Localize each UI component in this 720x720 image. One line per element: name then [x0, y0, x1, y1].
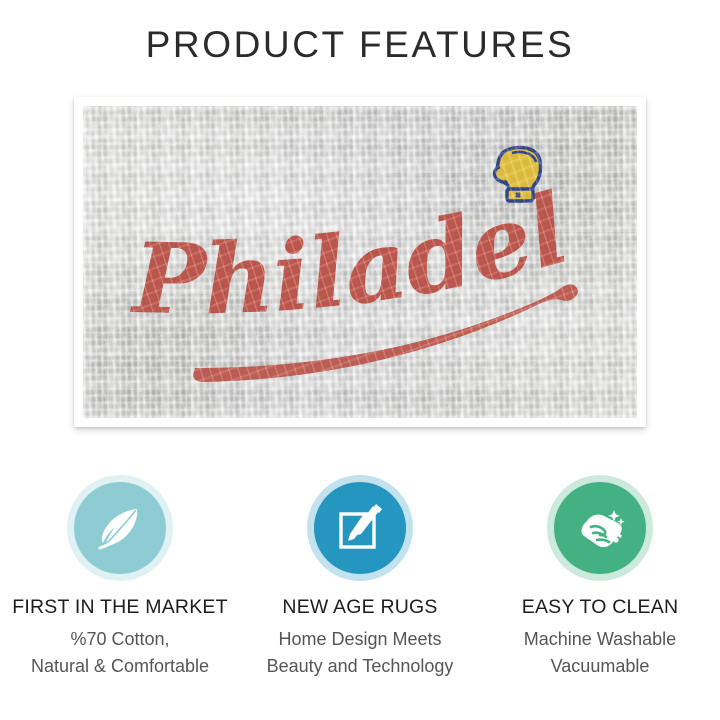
script-lettering: Philadelphia — [83, 106, 580, 337]
rug-script-logo: Philadelphia — [83, 106, 637, 418]
feature-subtext: Home Design Meets Beauty and Technology — [267, 626, 454, 681]
feature-item-clean: EASY TO CLEAN Machine Washable Vacuumabl… — [480, 482, 720, 681]
feature-subtext-line1: Machine Washable — [524, 629, 676, 649]
feature-item-cotton: FIRST IN THE MARKET %70 Cotton, Natural … — [0, 482, 240, 681]
feature-subtext-line2: Beauty and Technology — [267, 656, 454, 676]
product-image-rug: Philadelphia — [74, 97, 646, 427]
feature-subtext: %70 Cotton, Natural & Comfortable — [31, 626, 209, 681]
feature-subtext: Machine Washable Vacuumable — [524, 626, 676, 681]
feature-subtext-line1: %70 Cotton, — [70, 629, 169, 649]
feature-item-design: NEW AGE RUGS Home Design Meets Beauty an… — [240, 482, 480, 681]
feather-icon — [92, 500, 148, 556]
boxing-glove-icon — [490, 143, 548, 207]
feature-heading: FIRST IN THE MARKET — [12, 596, 227, 619]
feature-heading: EASY TO CLEAN — [522, 596, 679, 619]
cleaning-wipe-icon — [571, 499, 629, 557]
design-tools-icon — [332, 500, 388, 556]
feature-subtext-line2: Natural & Comfortable — [31, 656, 209, 676]
cleaning-wipe-icon-circle — [554, 482, 646, 574]
feather-icon-circle — [74, 482, 166, 574]
rug-texture-field: Philadelphia — [83, 106, 637, 418]
page-title: PRODUCT FEATURES — [0, 24, 720, 66]
feature-subtext-line1: Home Design Meets — [278, 629, 441, 649]
feature-heading: NEW AGE RUGS — [282, 596, 437, 619]
feature-subtext-line2: Vacuumable — [551, 656, 650, 676]
design-tools-icon-circle — [314, 482, 406, 574]
feature-list: FIRST IN THE MARKET %70 Cotton, Natural … — [0, 482, 720, 681]
